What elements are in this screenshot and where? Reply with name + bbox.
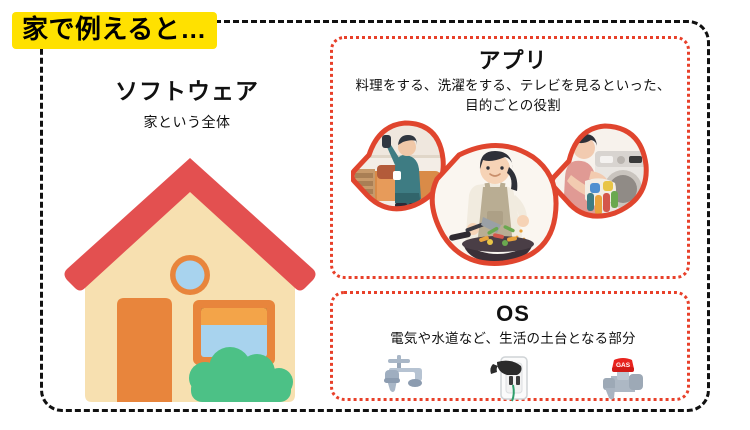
os-panel: OS 電気や水道など、生活の土台となる部分: [330, 291, 690, 401]
slide-canvas: 家で例えると… ソフトウェア 家という全体: [0, 0, 750, 430]
house-illustration: [55, 150, 325, 405]
power-outlet-icon: [487, 354, 539, 402]
os-panel-header: OS 電気や水道など、生活の土台となる部分: [333, 302, 693, 349]
app-panel-description: 料理をする、洗濯をする、テレビを見るといった、 目的ごとの役割: [333, 76, 693, 115]
software-section: ソフトウェア 家という全体: [52, 78, 322, 132]
app-panel-header: アプリ 料理をする、洗濯をする、テレビを見るといった、 目的ごとの役割: [333, 49, 693, 115]
app-desc-line-2: 目的ごとの役割: [465, 98, 561, 113]
app-panel-title: アプリ: [333, 49, 693, 73]
title-badge: 家で例えると…: [12, 12, 217, 49]
cooking-illustration: [429, 141, 565, 269]
software-title: ソフトウェア: [52, 78, 322, 106]
os-panel-description: 電気や水道など、生活の土台となる部分: [333, 329, 693, 349]
water-faucet-icon: [377, 354, 429, 402]
os-panel-title: OS: [333, 302, 693, 326]
software-subtitle: 家という全体: [52, 112, 322, 132]
gas-valve-label: GAS: [616, 362, 631, 369]
app-illustrations: [333, 117, 693, 279]
laundry-illustration: [551, 121, 655, 221]
app-panel: アプリ 料理をする、洗濯をする、テレビを見るといった、 目的ごとの役割: [330, 36, 690, 279]
app-desc-line-1: 料理をする、洗濯をする、テレビを見るといった、: [355, 78, 670, 93]
gas-valve-icon: GAS: [597, 354, 649, 402]
os-icon-row: GAS: [333, 352, 693, 402]
